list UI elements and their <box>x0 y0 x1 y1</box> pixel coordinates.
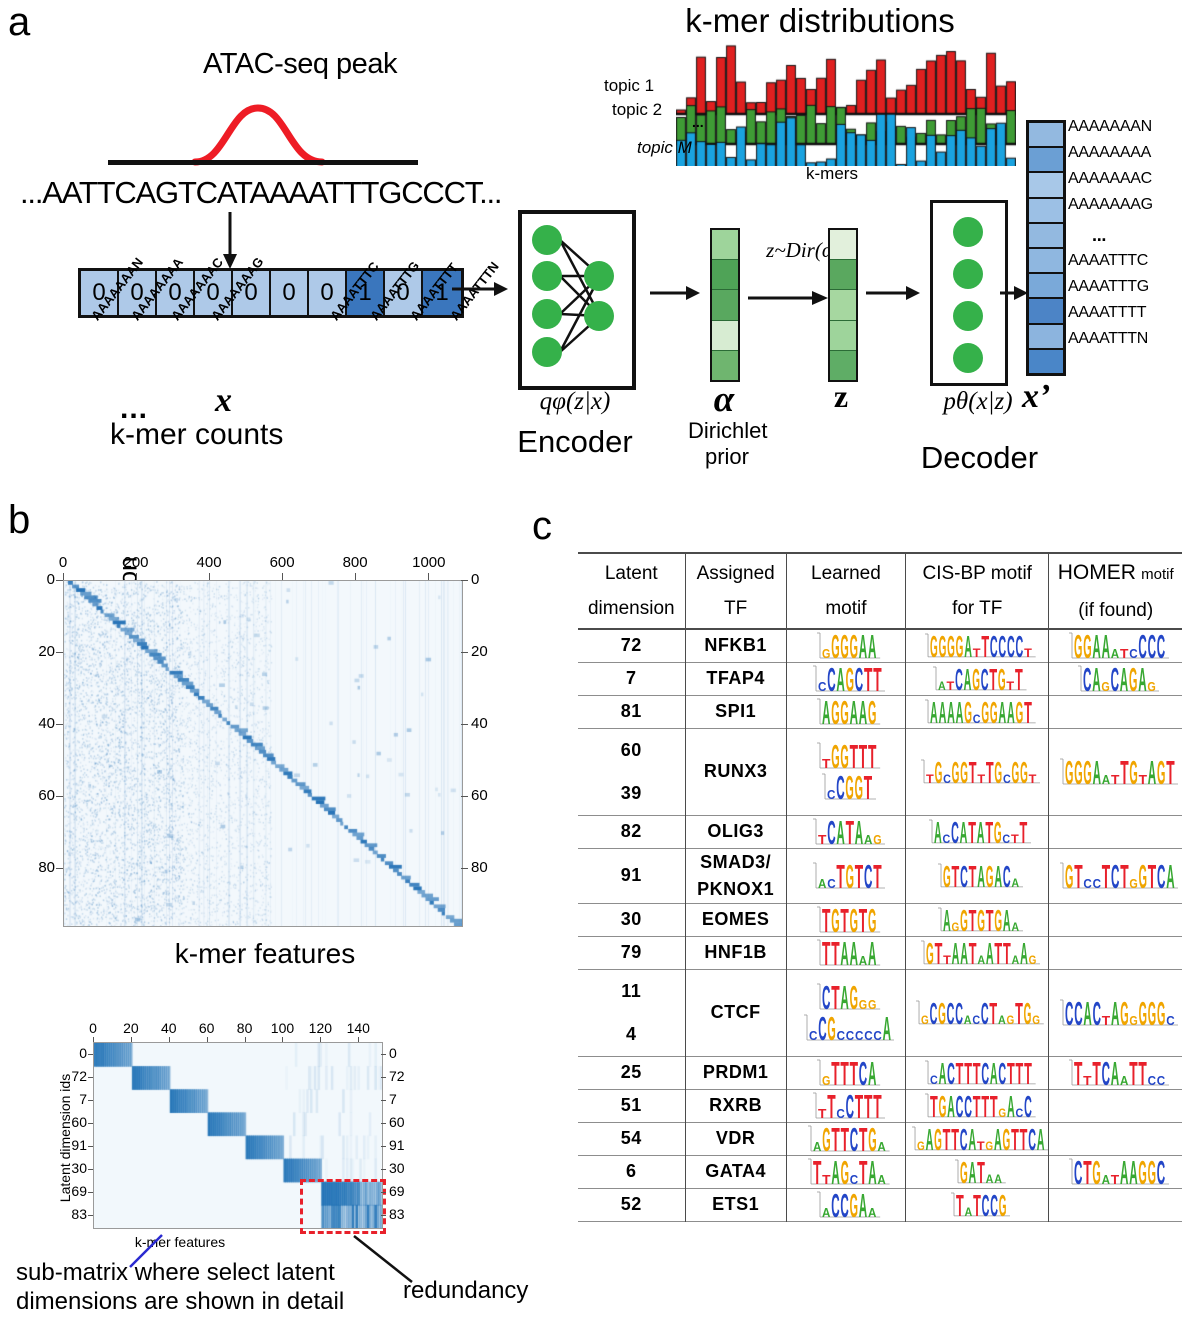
assigned-tf-value: HNF1B <box>686 939 786 966</box>
arrow-right-icon-3 <box>748 288 830 308</box>
svg-text:T: T <box>964 1059 972 1087</box>
svg-text:A: A <box>818 876 827 891</box>
kmer-count-cell: 0 <box>271 271 309 315</box>
svg-text:T: T <box>832 1124 840 1154</box>
sequence-logo: CTAGGG <box>811 982 880 1012</box>
latent-dimension-value: 4 <box>578 1013 685 1056</box>
big-heatmap <box>63 580 463 927</box>
svg-text:C: C <box>845 1091 853 1121</box>
big-heatmap-xtick: 0 <box>47 554 79 571</box>
sequence-logo: CCGGT <box>816 772 876 802</box>
svg-text:T: T <box>1028 772 1036 786</box>
topic-M-label: topic M <box>637 138 692 158</box>
learned-motif-cell: TGGTTTCCGGT <box>786 728 905 815</box>
homer-motif-cell <box>1049 1188 1182 1221</box>
svg-text:C: C <box>1147 631 1155 661</box>
decoder-node <box>953 343 983 373</box>
svg-text:T: T <box>1083 1157 1091 1187</box>
homer-motif-cell <box>1049 695 1182 728</box>
svg-text:A: A <box>990 1059 998 1087</box>
svg-text:A: A <box>882 1013 890 1043</box>
svg-text:T: T <box>994 939 1002 967</box>
svg-text:C: C <box>943 832 951 846</box>
cisbp-motif-cell: ACCATATGCTT <box>906 815 1049 848</box>
latent-dimension-cell: 114 <box>578 969 685 1056</box>
svg-text:G: G <box>1007 1013 1015 1027</box>
svg-text:A: A <box>1138 664 1146 694</box>
svg-text:A: A <box>964 1013 972 1027</box>
sequence-logo: TTTCAATTCC <box>1063 1058 1169 1088</box>
svg-text:A: A <box>998 698 1006 726</box>
svg-text:T: T <box>990 1092 998 1120</box>
assigned-tf-cell: SMAD3/PKNOX1 <box>685 848 786 903</box>
table-row: 82OLIG3TCATAAGACCATATGCTT <box>578 815 1182 848</box>
svg-text:G: G <box>981 698 989 726</box>
assigned-tf-value: EOMES <box>686 906 786 933</box>
svg-text:T: T <box>827 1091 835 1121</box>
table-row: 91SMAD3/PKNOX1ACTGTCTGTCTAGACAGTCCTCTGGT… <box>578 848 1182 903</box>
sequence-logo: TCATAAG <box>807 817 885 847</box>
svg-text:A: A <box>994 862 1002 890</box>
svg-text:G: G <box>868 905 876 935</box>
svg-text:T: T <box>818 1106 826 1121</box>
encoder-box <box>518 210 636 390</box>
svg-text:G: G <box>1138 1157 1146 1187</box>
svg-text:G: G <box>943 862 951 890</box>
assigned-tf-value: RUNX3 <box>686 758 786 785</box>
svg-text:T: T <box>859 1157 867 1187</box>
svg-text:T: T <box>1074 861 1082 891</box>
learned-motif-cell: TGTGTG <box>786 903 905 936</box>
dirichlet-prior-line2: prior <box>688 444 766 470</box>
svg-text:G: G <box>1156 998 1164 1028</box>
xprime-kmer-label: AAAATTTG <box>1068 278 1149 296</box>
cisbp-motif-cell: AGGTGTGAA <box>906 903 1049 936</box>
sequence-logo: CACTTTCACTTT <box>919 1059 1036 1087</box>
big-heatmap-ytick: 40 <box>21 715 55 732</box>
big-heatmap-ytick-mark <box>56 652 63 653</box>
svg-text:G: G <box>951 758 959 786</box>
topic-2-label: topic 2 <box>612 100 662 120</box>
svg-text:C: C <box>850 1124 858 1154</box>
sub-heatmap-ytick-mark <box>381 1146 386 1147</box>
svg-text:G: G <box>850 631 858 661</box>
latent-dimension-value: 7 <box>578 668 685 689</box>
panel-label-a: a <box>8 2 30 42</box>
sub-heatmap-ytick: 91 <box>389 1137 417 1153</box>
svg-text:T: T <box>968 906 976 934</box>
svg-text:G: G <box>832 697 840 727</box>
svg-text:G: G <box>1074 631 1082 661</box>
svg-text:C: C <box>1110 664 1118 694</box>
svg-text:A: A <box>968 1125 976 1153</box>
sub-heatmap-ytick-mark <box>381 1054 386 1055</box>
svg-text:C: C <box>822 982 830 1012</box>
svg-text:T: T <box>1092 1058 1100 1088</box>
svg-text:A: A <box>926 1125 934 1153</box>
svg-text:C: C <box>1074 998 1082 1028</box>
latent-dimension-value: 25 <box>578 1062 685 1083</box>
table-row: 51RXRBTTCCTTTTGACCTTTGACC <box>578 1089 1182 1122</box>
sequence-logo: TTAAAA <box>811 938 880 968</box>
dna-sequence: ...AATTCAGTCATAAAATTTGCCCT... <box>20 175 480 211</box>
svg-text:T: T <box>930 1092 938 1120</box>
svg-text:C: C <box>990 1191 998 1219</box>
svg-text:T: T <box>985 758 993 786</box>
assigned-tf-value: RXRB <box>686 1092 786 1119</box>
genome-line <box>108 160 418 165</box>
latent-dimension-value: 11 <box>578 970 685 1013</box>
big-heatmap-xtick: 600 <box>266 554 298 571</box>
svg-text:G: G <box>1138 998 1146 1028</box>
svg-text:T: T <box>934 939 942 967</box>
svg-text:C: C <box>827 817 835 847</box>
svg-text:A: A <box>868 1205 877 1220</box>
svg-text:G: G <box>998 1106 1006 1120</box>
motif-table-body: 72NFKB1GGGGAAGGGGATTCCCCTGGAAATCCCC7TFAP… <box>578 629 1182 1222</box>
motif-table-header-cell: AssignedTF <box>685 553 786 629</box>
sequence-logo: CTGATAAGGC <box>1063 1157 1169 1187</box>
svg-text:G: G <box>1011 758 1019 786</box>
assigned-tf-cell: GATA4 <box>685 1155 786 1188</box>
big-heatmap-xtick: 200 <box>120 554 152 571</box>
svg-text:T: T <box>1024 1059 1032 1087</box>
big-heatmap-ytick-mark <box>56 724 63 725</box>
svg-text:G: G <box>868 697 876 727</box>
assigned-tf-value: GATA4 <box>686 1158 786 1185</box>
svg-text:A: A <box>868 1157 876 1187</box>
arrow-right-icon-4 <box>866 282 922 304</box>
big-heatmap-ytick: 60 <box>471 787 505 804</box>
svg-text:A: A <box>938 679 946 693</box>
sub-heatmap-ytick: 69 <box>389 1183 417 1199</box>
xprime-kmer-label: AAAAAAAN <box>1068 118 1152 136</box>
assigned-tf-value: OLIG3 <box>686 818 786 845</box>
sequence-logo: TTAGCTAA <box>802 1157 890 1187</box>
svg-text:T: T <box>1007 679 1015 693</box>
cisbp-motif-cell: ATCAGCTGTT <box>906 662 1049 695</box>
svg-text:T: T <box>977 1158 985 1186</box>
encoder-formula: qφ(z|x) <box>515 388 635 416</box>
svg-text:C: C <box>981 1059 989 1087</box>
svg-text:G: G <box>1015 698 1023 726</box>
latent-dimension-value: 51 <box>578 1095 685 1116</box>
svg-text:C: C <box>809 1028 818 1043</box>
sequence-logo: CCGCCCCCA <box>798 1013 895 1043</box>
svg-text:A: A <box>1011 920 1019 934</box>
svg-text:C: C <box>930 999 938 1027</box>
svg-text:T: T <box>947 679 955 693</box>
sub-heatmap-xtick-mark <box>131 1037 132 1042</box>
svg-text:C: C <box>956 665 964 693</box>
svg-text:T: T <box>968 939 976 967</box>
sub-heatmap-xtick-mark <box>245 1037 246 1042</box>
sub-heatmap-ytick: 30 <box>389 1160 417 1176</box>
svg-text:C: C <box>818 1013 826 1043</box>
learned-motif-cell: GTTTCA <box>786 1056 905 1089</box>
svg-text:G: G <box>990 698 998 726</box>
svg-text:G: G <box>1074 757 1082 787</box>
svg-text:C: C <box>1147 1073 1156 1088</box>
svg-text:C: C <box>855 664 863 694</box>
sub-heatmap-ytick-mark <box>381 1123 386 1124</box>
svg-text:A: A <box>813 1139 822 1154</box>
svg-text:G: G <box>934 1125 942 1153</box>
svg-text:G: G <box>998 665 1006 693</box>
svg-text:C: C <box>855 1028 864 1043</box>
svg-text:A: A <box>943 906 951 934</box>
svg-text:T: T <box>841 905 849 935</box>
svg-text:G: G <box>1129 664 1137 694</box>
svg-text:C: C <box>1092 998 1100 1028</box>
svg-text:C: C <box>1138 631 1146 661</box>
atac-seq-peak-title: ATAC-seq peak <box>150 48 450 81</box>
svg-text:A: A <box>1011 876 1019 890</box>
assigned-tf-cell: CTCF <box>685 969 786 1056</box>
latent-dimension-value: 39 <box>578 772 685 815</box>
header-line-2: dimension <box>578 591 685 626</box>
topic-1-label: topic 1 <box>604 76 654 96</box>
sequence-logo: TGTGTG <box>811 905 880 935</box>
svg-text:G: G <box>973 665 981 693</box>
svg-text:G: G <box>1020 758 1028 786</box>
svg-text:C: C <box>827 664 835 694</box>
sub-heatmap-xtick: 80 <box>231 1020 259 1036</box>
svg-text:C: C <box>973 1013 981 1027</box>
svg-text:T: T <box>832 1058 840 1088</box>
svg-text:T: T <box>1120 646 1128 661</box>
svg-text:G: G <box>1003 1125 1011 1153</box>
latent-dimension-cell: 79 <box>578 936 685 969</box>
decoder-formula: pθ(x|z) <box>918 388 1038 416</box>
xprime-kmer-label: AAAATTTN <box>1068 330 1148 348</box>
svg-text:G: G <box>1064 861 1072 891</box>
svg-text:A: A <box>1037 1125 1045 1153</box>
cisbp-motif-cell: GCGCCACCTAGTGG <box>906 969 1049 1056</box>
homer-motif-cell <box>1049 1122 1182 1155</box>
svg-text:T: T <box>973 1092 981 1120</box>
sub-heatmap-xtick-mark <box>358 1037 359 1042</box>
svg-text:T: T <box>1015 999 1023 1027</box>
sub-heatmap-xtick-mark <box>207 1037 208 1042</box>
xprime-kmer-label: AAAATTTC <box>1068 252 1148 270</box>
assigned-tf-value: SPI1 <box>686 698 786 725</box>
svg-text:A: A <box>855 817 863 847</box>
kmers-axis-label: k-mers <box>806 164 858 184</box>
latent-dimension-cell: 52 <box>578 1188 685 1221</box>
svg-text:A: A <box>1092 757 1100 787</box>
sequence-logo: AGGAAG <box>811 697 880 727</box>
svg-text:A: A <box>994 1172 1002 1186</box>
big-heatmap-ytick-mark <box>56 580 63 581</box>
latent-dimension-cell: 7 <box>578 662 685 695</box>
svg-text:T: T <box>845 817 853 847</box>
svg-text:C: C <box>1003 862 1011 890</box>
svg-text:C: C <box>836 1106 845 1121</box>
svg-text:A: A <box>850 938 858 968</box>
svg-text:T: T <box>990 999 998 1027</box>
svg-text:T: T <box>832 938 840 968</box>
latent-dimension-value: 81 <box>578 701 685 722</box>
assigned-tf-cell: RXRB <box>685 1089 786 1122</box>
cisbp-motif-cell: GTCTAGACA <box>906 848 1049 903</box>
sub-heatmap-ytick-mark <box>88 1077 93 1078</box>
sequence-logo: AAAAGCGGAAGT <box>919 698 1036 726</box>
svg-text:C: C <box>981 999 989 1027</box>
svg-text:G: G <box>994 758 1002 786</box>
svg-text:G: G <box>845 664 853 694</box>
svg-text:T: T <box>841 1058 849 1088</box>
svg-text:C: C <box>873 1028 882 1043</box>
big-heatmap-ytick-mark <box>56 796 63 797</box>
svg-text:T: T <box>1083 1073 1091 1088</box>
svg-text:T: T <box>822 905 830 935</box>
sequence-logo: GTTAATAATTAAG <box>915 939 1040 967</box>
svg-text:G: G <box>832 631 840 661</box>
svg-text:C: C <box>1110 861 1118 891</box>
assigned-tf-cell: PRDM1 <box>685 1056 786 1089</box>
homer-motif-cell: TTTCAATTCC <box>1049 1056 1182 1089</box>
learned-motif-cell: TCATAAG <box>786 815 905 848</box>
sequence-logo: ACTGTCT <box>807 861 885 891</box>
svg-text:C: C <box>981 665 989 693</box>
svg-text:G: G <box>938 632 946 660</box>
svg-text:C: C <box>1156 1157 1164 1187</box>
big-heatmap-xtick: 800 <box>339 554 371 571</box>
svg-text:A: A <box>930 698 938 726</box>
sequence-logo: ACCGAA <box>811 1190 880 1220</box>
svg-text:T: T <box>1003 939 1011 967</box>
svg-text:G: G <box>1129 1013 1137 1028</box>
svg-text:G: G <box>822 1073 830 1088</box>
big-heatmap-xtick: 1000 <box>412 554 444 571</box>
header-line-1: Learned <box>787 556 905 591</box>
svg-text:T: T <box>1147 861 1155 891</box>
svg-text:T: T <box>841 1124 849 1154</box>
big-heatmap-xtick-mark <box>428 573 429 580</box>
svg-text:T: T <box>1101 861 1109 891</box>
sequence-logo: GGGGATTCCCCT <box>919 632 1036 660</box>
svg-text:C: C <box>1003 832 1011 846</box>
decoder-node <box>953 217 983 247</box>
table-row: 52ETS1ACCGAATATCCG <box>578 1188 1182 1221</box>
sub-heatmap-ytick: 60 <box>389 1114 417 1130</box>
learned-motif-cell: ACCGAA <box>786 1188 905 1221</box>
svg-text:A: A <box>947 698 955 726</box>
sub-heatmap-xtick-mark <box>169 1037 170 1042</box>
svg-text:A: A <box>1110 998 1118 1028</box>
svg-text:T: T <box>1166 757 1174 787</box>
sub-heatmap-ytick: 7 <box>389 1091 417 1107</box>
svg-text:A: A <box>1101 1172 1110 1187</box>
svg-text:A: A <box>822 1205 831 1220</box>
svg-text:G: G <box>845 772 853 802</box>
latent-dimension-value: 54 <box>578 1128 685 1149</box>
big-heatmap-xtick-mark <box>136 573 137 580</box>
svg-text:C: C <box>1015 1106 1023 1120</box>
svg-text:C: C <box>1083 876 1092 891</box>
homer-motif-cell: CCACTAGGGGGC <box>1049 969 1182 1056</box>
table-row: 30EOMESTGTGTGAGGTGTGAA <box>578 903 1182 936</box>
assigned-tf-value: NFKB1 <box>686 632 786 659</box>
svg-text:A: A <box>1101 631 1109 661</box>
svg-text:C: C <box>1064 998 1072 1028</box>
latent-dimension-cell: 82 <box>578 815 685 848</box>
svg-text:C: C <box>947 1059 955 1087</box>
svg-text:T: T <box>868 741 876 771</box>
sequence-logo: TGGTTT <box>811 741 880 771</box>
panel-label-c: c <box>532 506 552 546</box>
svg-text:C: C <box>1166 1013 1175 1028</box>
svg-text:T: T <box>1007 1059 1015 1087</box>
sub-heatmap-xtick: 140 <box>344 1020 372 1036</box>
sub-heatmap-xtick: 0 <box>79 1020 107 1036</box>
cisbp-motif-cell: GGGGATTCCCCT <box>906 629 1049 663</box>
svg-text:T: T <box>855 1091 863 1121</box>
encoder-node <box>532 299 562 329</box>
dirichlet-prior-line1: Dirichlet <box>688 418 766 444</box>
cisbp-motif-cell: TGACCTTTGACC <box>906 1089 1049 1122</box>
header-line-2: for TF <box>906 591 1048 626</box>
svg-text:C: C <box>1028 1125 1036 1153</box>
svg-text:T: T <box>873 664 881 694</box>
learned-motif-cell: TTAAAA <box>786 936 905 969</box>
svg-text:C: C <box>1083 664 1091 694</box>
sub-heatmap-ylabel: Latent dimension ids <box>57 1048 73 1228</box>
panel-label-b: b <box>8 500 30 540</box>
svg-text:G: G <box>934 758 942 786</box>
sequence-logo: GATAA <box>949 1158 1006 1186</box>
svg-text:G: G <box>1101 679 1109 694</box>
svg-text:G: G <box>855 772 863 802</box>
cisbp-motif-cell: GAGTTCATGAGTTCA <box>906 1122 1049 1155</box>
latent-dimension-cell: 6039 <box>578 728 685 815</box>
table-row: 72NFKB1GGGGAAGGGGATTCCCCTGGAAATCCCC <box>578 629 1182 663</box>
latent-dimension-value: 82 <box>578 821 685 842</box>
svg-text:A: A <box>868 938 876 968</box>
svg-text:G: G <box>1120 998 1128 1028</box>
svg-text:A: A <box>1110 1058 1118 1088</box>
learned-motif-cell: GGGGAA <box>786 629 905 663</box>
sequence-logo: GGAAATCCCC <box>1063 631 1169 661</box>
svg-text:T: T <box>1020 818 1028 846</box>
xprime-kmer-label: AAAAAAAA <box>1068 144 1151 162</box>
redundancy-note: redundancy <box>403 1277 528 1305</box>
svg-text:G: G <box>1028 953 1036 967</box>
svg-text:G: G <box>868 1124 876 1154</box>
svg-text:A: A <box>836 664 844 694</box>
big-heatmap-ytick: 40 <box>471 715 505 732</box>
big-heatmap-ytick-mark <box>56 868 63 869</box>
homer-motif-cell: CTGATAAGGC <box>1049 1155 1182 1188</box>
encoder-node <box>532 225 562 255</box>
xprime-kmer-label: AAAAAAAG <box>1068 196 1153 214</box>
sub-heatmap-ytick-mark <box>381 1192 386 1193</box>
header-line-2: (if found) <box>1049 593 1182 628</box>
latent-dimension-value: 91 <box>578 865 685 886</box>
svg-text:C: C <box>960 862 968 890</box>
svg-text:T: T <box>973 1191 981 1219</box>
latent-dimension-value: 72 <box>578 635 685 656</box>
svg-text:G: G <box>1064 757 1072 787</box>
svg-text:G: G <box>841 1157 849 1187</box>
sequence-logo: CCACTAGGGGGC <box>1054 998 1178 1028</box>
encoder-label: Encoder <box>510 424 640 460</box>
sequence-logo: GCGCCACCTAGTGG <box>910 999 1044 1027</box>
svg-text:A: A <box>1120 1073 1129 1088</box>
sub-heatmap-ytick: 83 <box>389 1206 417 1222</box>
cisbp-motif-cell: GTTAATAATTAAG <box>906 936 1049 969</box>
